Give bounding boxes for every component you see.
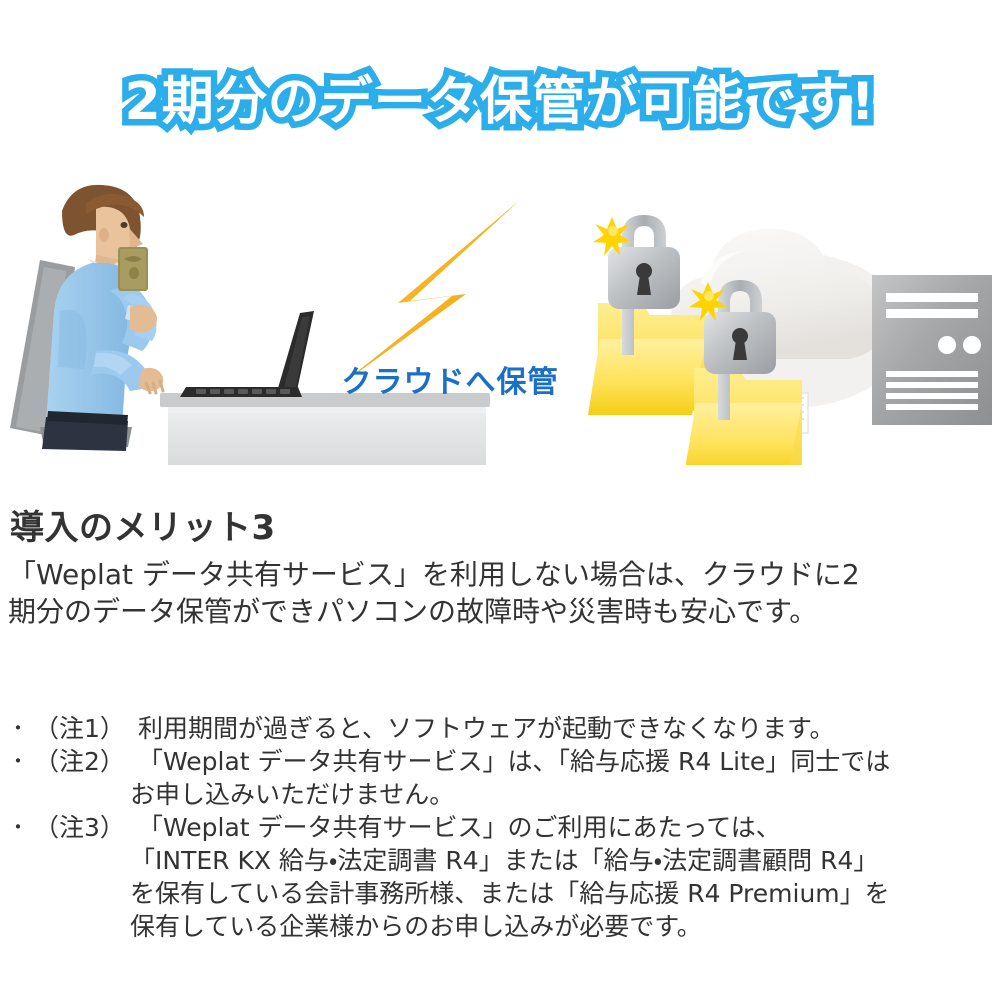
note-line: を保有している会計事務所様、または「給与応援 R4 Premium」を bbox=[0, 877, 1000, 910]
note-line: お申し込みいただけません。 bbox=[0, 778, 1000, 811]
note-tag: （注2） bbox=[34, 745, 138, 778]
merit-body: 「Weplat データ共有サービス」を利用しない場合は、クラウドに2 期分のデー… bbox=[8, 556, 968, 630]
note-line: 「INTER KX 給与・法定調書 R4」または「給与・法定調書顧問 R4」 bbox=[0, 844, 1000, 877]
illustration bbox=[0, 155, 1000, 465]
note-text: を保有している会計事務所様、または「給与応援 R4 Premium」を bbox=[130, 877, 890, 910]
note-tag: （注1） bbox=[34, 712, 138, 745]
note-text: お申し込みいただけません。 bbox=[130, 778, 454, 811]
note-line: ・（注1）利用期間が過ぎると、ソフトウェアが起動できなくなります。 bbox=[0, 712, 1000, 745]
note-bullet: ・ bbox=[0, 811, 34, 844]
bolt-caption: クラウドへ保管 bbox=[330, 357, 570, 401]
note-text: 「Weplat データ共有サービス」は、「給与応援 R4 Lite」同士では bbox=[138, 745, 890, 778]
note-text: 「INTER KX 給与・法定調書 R4」または「給与・法定調書顧問 R4」 bbox=[130, 844, 878, 877]
note-item: ・（注2）「Weplat データ共有サービス」は、「給与応援 R4 Lite」同… bbox=[0, 745, 1000, 811]
headline-banner: 2期分のデータ保管が可能です! bbox=[0, 62, 1000, 142]
page-title: 導入のメリット3 bbox=[10, 500, 276, 549]
note-line: 保有している企業様からのお申し込みが必要です。 bbox=[0, 910, 1000, 943]
note-bullet: ・ bbox=[0, 745, 34, 778]
note-tag: （注3） bbox=[34, 811, 138, 844]
document-panel bbox=[872, 275, 992, 425]
note-text: 利用期間が過ぎると、ソフトウェアが起動できなくなります。 bbox=[138, 712, 835, 745]
note-text: 保有している企業様からのお申し込みが必要です。 bbox=[130, 910, 702, 943]
promo-page: 2期分のデータ保管が可能です! bbox=[0, 0, 1000, 1000]
headline-text: 2期分のデータ保管が可能です! bbox=[125, 76, 876, 128]
merit-body-line: 「Weplat データ共有サービス」を利用しない場合は、クラウドに2 bbox=[8, 556, 968, 593]
note-line: ・（注3）「Weplat データ共有サービス」のご利用にあたっては、 bbox=[0, 811, 1000, 844]
note-bullet: ・ bbox=[0, 712, 34, 745]
merit-body-line: 期分のデータ保管ができパソコンの故障時や災害時も安心です。 bbox=[8, 593, 968, 630]
note-item: ・（注3）「Weplat データ共有サービス」のご利用にあたっては、 「INTE… bbox=[0, 811, 1000, 943]
note-item: ・（注1）利用期間が過ぎると、ソフトウェアが起動できなくなります。 bbox=[0, 712, 1000, 745]
notes-list: ・（注1）利用期間が過ぎると、ソフトウェアが起動できなくなります。 ・（注2）「… bbox=[0, 712, 1000, 943]
note-line: ・（注2）「Weplat データ共有サービス」は、「給与応援 R4 Lite」同… bbox=[0, 745, 1000, 778]
note-text: 「Weplat データ共有サービス」のご利用にあたっては、 bbox=[138, 811, 781, 844]
